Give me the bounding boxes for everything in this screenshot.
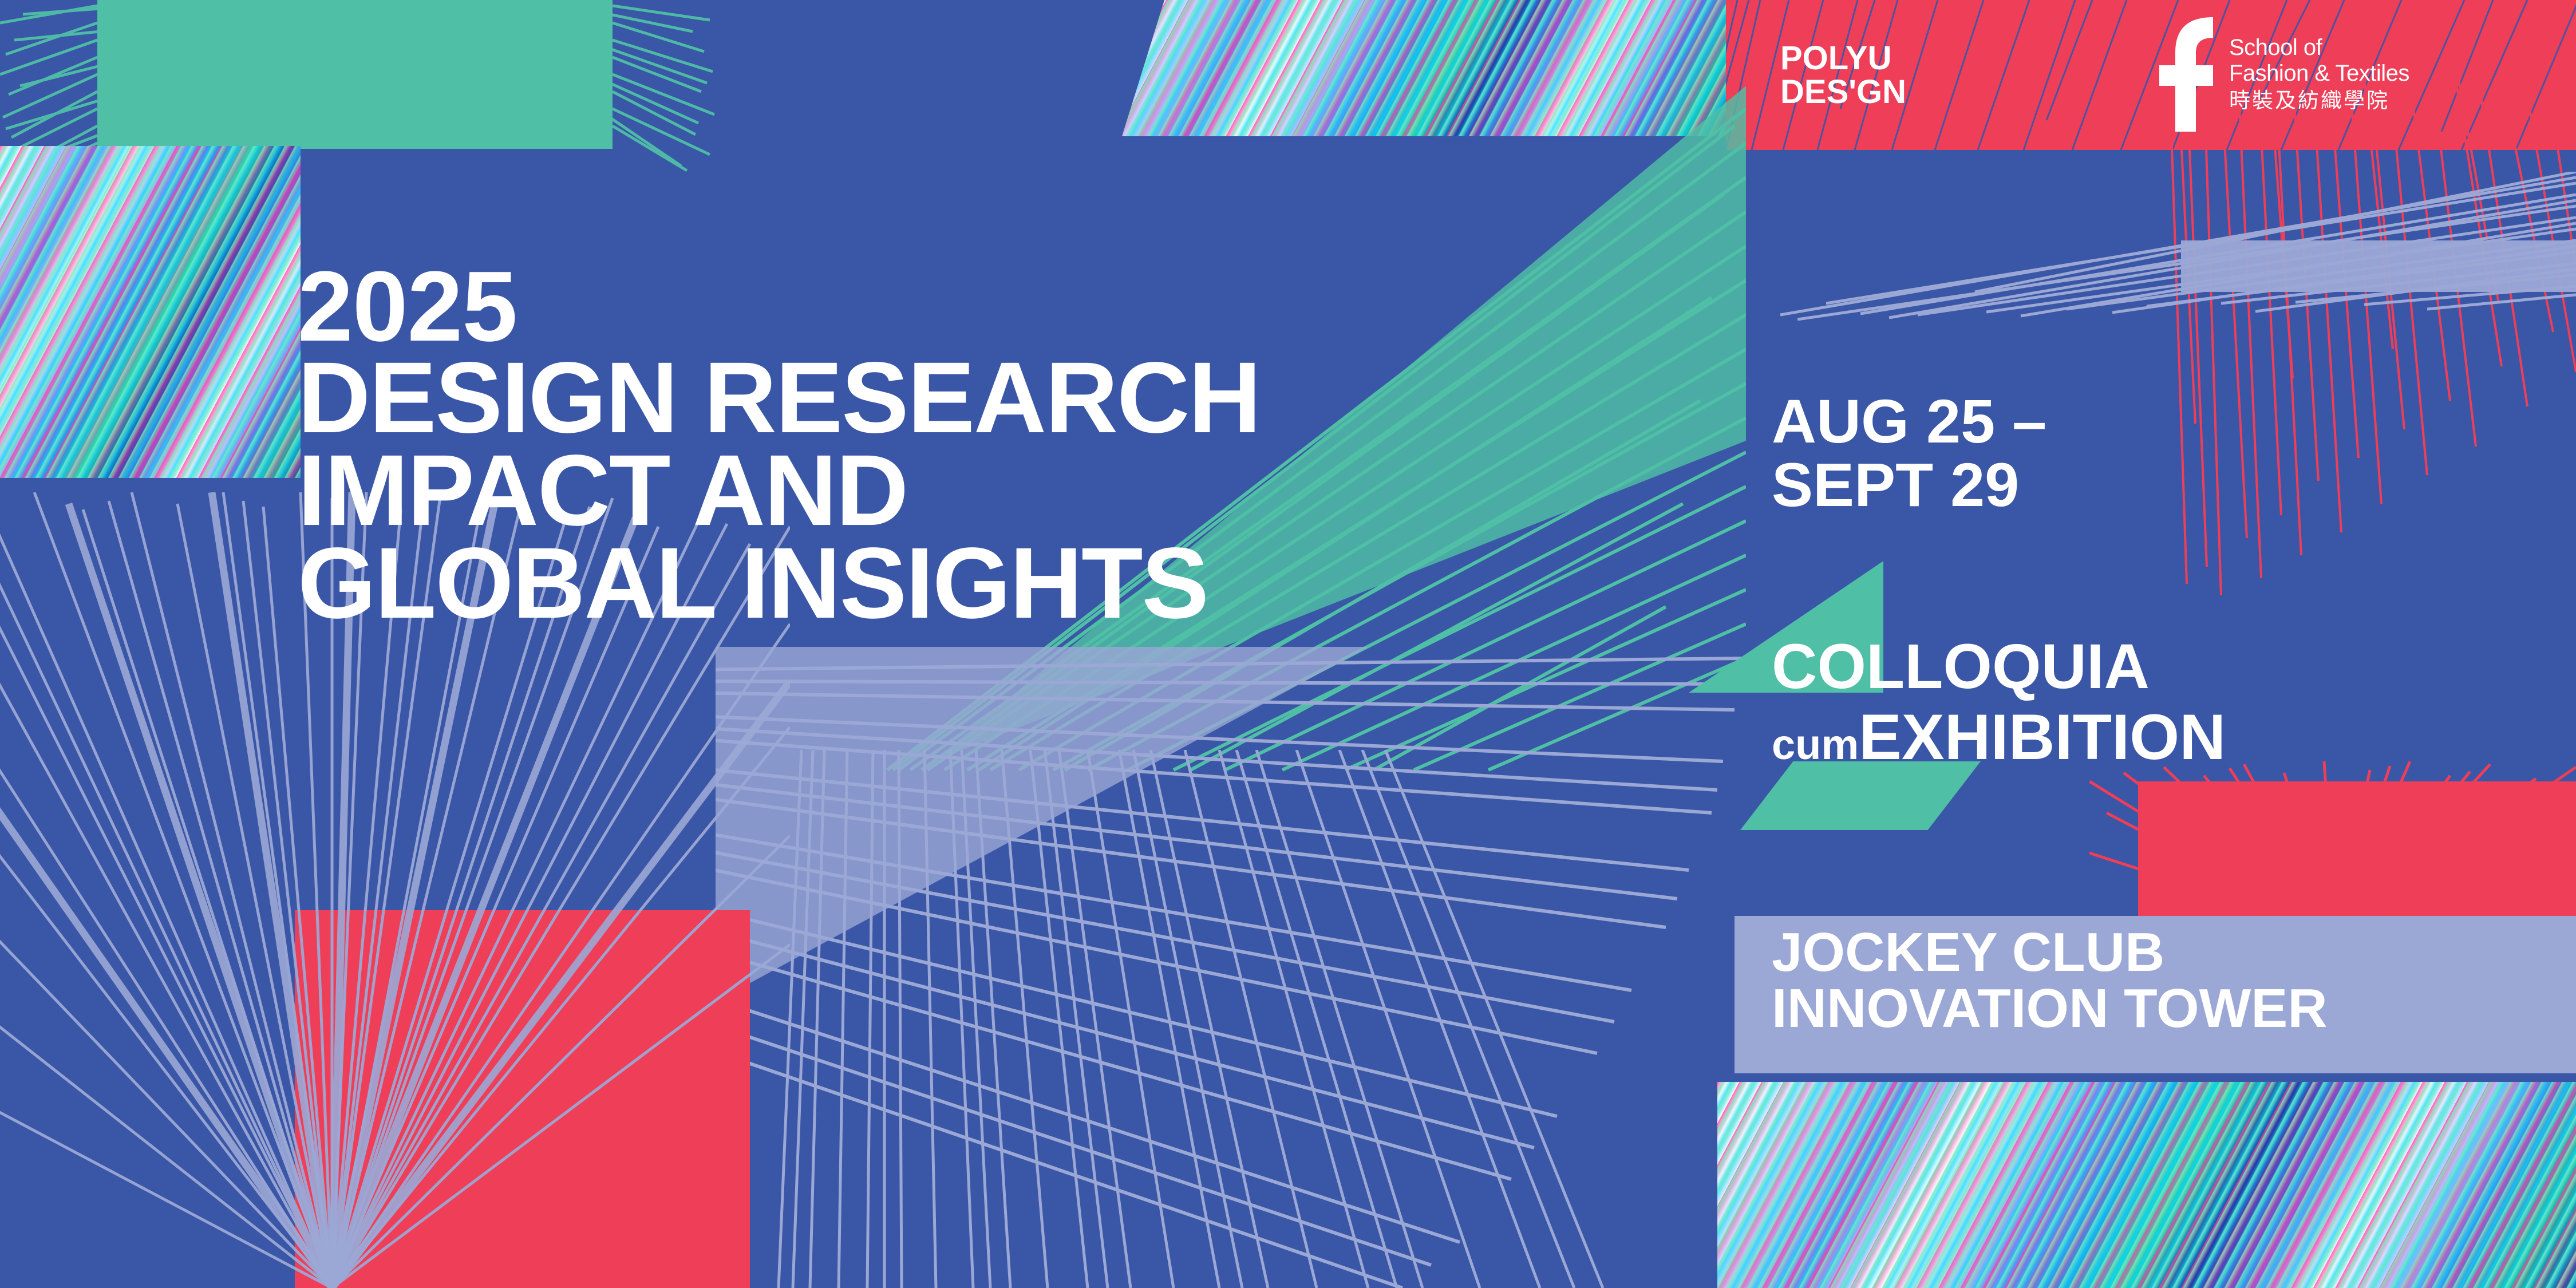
event-exhibition-word: EXHIBITION bbox=[1859, 701, 2226, 773]
prismatic-gradient-top-left bbox=[0, 146, 301, 478]
title-line-year: 2025 bbox=[298, 260, 1260, 352]
logo-bar: POLYU DES'GN School of Fashion & Textile… bbox=[1726, 0, 2576, 150]
date-line-end: SEPT 29 bbox=[1772, 453, 2046, 516]
red-block-left bbox=[295, 910, 750, 1288]
prismatic-gradient-top-center bbox=[1122, 0, 1729, 136]
school-line-chinese: 時裝及紡織學院 bbox=[2229, 88, 2409, 114]
event-colloquia: COLLOQUIA bbox=[1772, 635, 2226, 698]
school-line-1: School of bbox=[2229, 35, 2409, 61]
red-block-right bbox=[2138, 781, 2576, 919]
venue-line-2: INNOVATION TOWER bbox=[1772, 981, 2328, 1037]
polyu-logo-line-1: POLYU bbox=[1780, 41, 1906, 75]
poster-title: 2025 DESIGN RESEARCH IMPACT AND GLOBAL I… bbox=[298, 260, 1260, 630]
periwinkle-radiating-fan bbox=[716, 647, 1746, 1288]
prismatic-gradient-bottom-right bbox=[1717, 1082, 2576, 1288]
title-line-design-research: DESIGN RESEARCH bbox=[298, 352, 1260, 445]
teal-burst-decoration bbox=[0, 0, 716, 172]
polyu-logo-line-2: DES'GN bbox=[1780, 75, 1906, 109]
school-line-2: Fashion & Textiles bbox=[2229, 61, 2409, 86]
teal-block-decoration bbox=[97, 0, 613, 149]
school-wordmark: School of Fashion & Textiles 時裝及紡織學院 bbox=[2229, 35, 2409, 114]
event-venue: JOCKEY CLUB INNOVATION TOWER bbox=[1772, 924, 2328, 1037]
school-of-fashion-textiles-logo: School of Fashion & Textiles 時裝及紡織學院 bbox=[2158, 17, 2409, 132]
event-cum-exhibition: cumEXHIBITION bbox=[1772, 705, 2226, 769]
event-type: COLLOQUIA cumEXHIBITION bbox=[1772, 635, 2226, 769]
venue-line-1: JOCKEY CLUB bbox=[1772, 924, 2328, 981]
fashion-f-icon bbox=[2158, 17, 2213, 132]
polyu-design-logo: POLYU DES'GN bbox=[1780, 41, 1906, 109]
periwinkle-streak-band-top bbox=[1746, 172, 2576, 321]
red-starburst-right bbox=[2089, 761, 2576, 933]
event-cum-word: cum bbox=[1772, 721, 1859, 768]
periwinkle-vertical-streaks-bottom bbox=[744, 750, 1717, 1288]
title-line-global-insights: GLOBAL INSIGHTS bbox=[298, 538, 1260, 630]
date-line-start: AUG 25 – bbox=[1772, 389, 2046, 453]
event-poster: 2025 DESIGN RESEARCH IMPACT AND GLOBAL I… bbox=[0, 0, 2576, 1288]
title-line-impact-and: IMPACT AND bbox=[298, 445, 1260, 538]
red-drip-texture bbox=[2147, 80, 2576, 595]
event-dates: AUG 25 – SEPT 29 bbox=[1772, 389, 2046, 516]
